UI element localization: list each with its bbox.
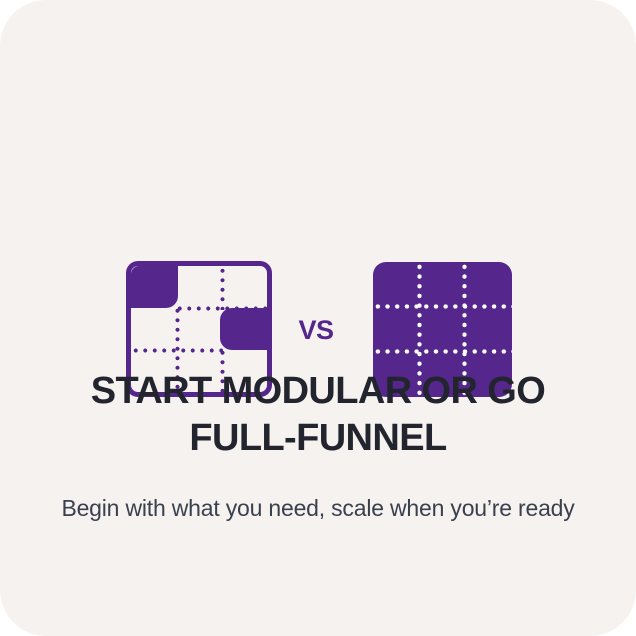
modular-dotted-line-vertical-2: [220, 266, 225, 310]
full-funnel-dotted-line-horizontal-2: [373, 349, 512, 354]
icon-comparison-row: VS: [0, 125, 636, 285]
modular-filled-cell-top-left: [131, 266, 178, 308]
versus-label: VS: [286, 315, 346, 345]
full-funnel-dotted-line-horizontal-1: [373, 304, 512, 309]
feature-card: VS START MODULAR OR GO FULL-FUNNEL Begin…: [0, 0, 636, 636]
modular-filled-cell-middle-right: [220, 308, 267, 350]
page-subtitle: Begin with what you need, scale when you…: [58, 490, 578, 526]
page-title: START MODULAR OR GO FULL-FUNNEL: [40, 368, 596, 462]
